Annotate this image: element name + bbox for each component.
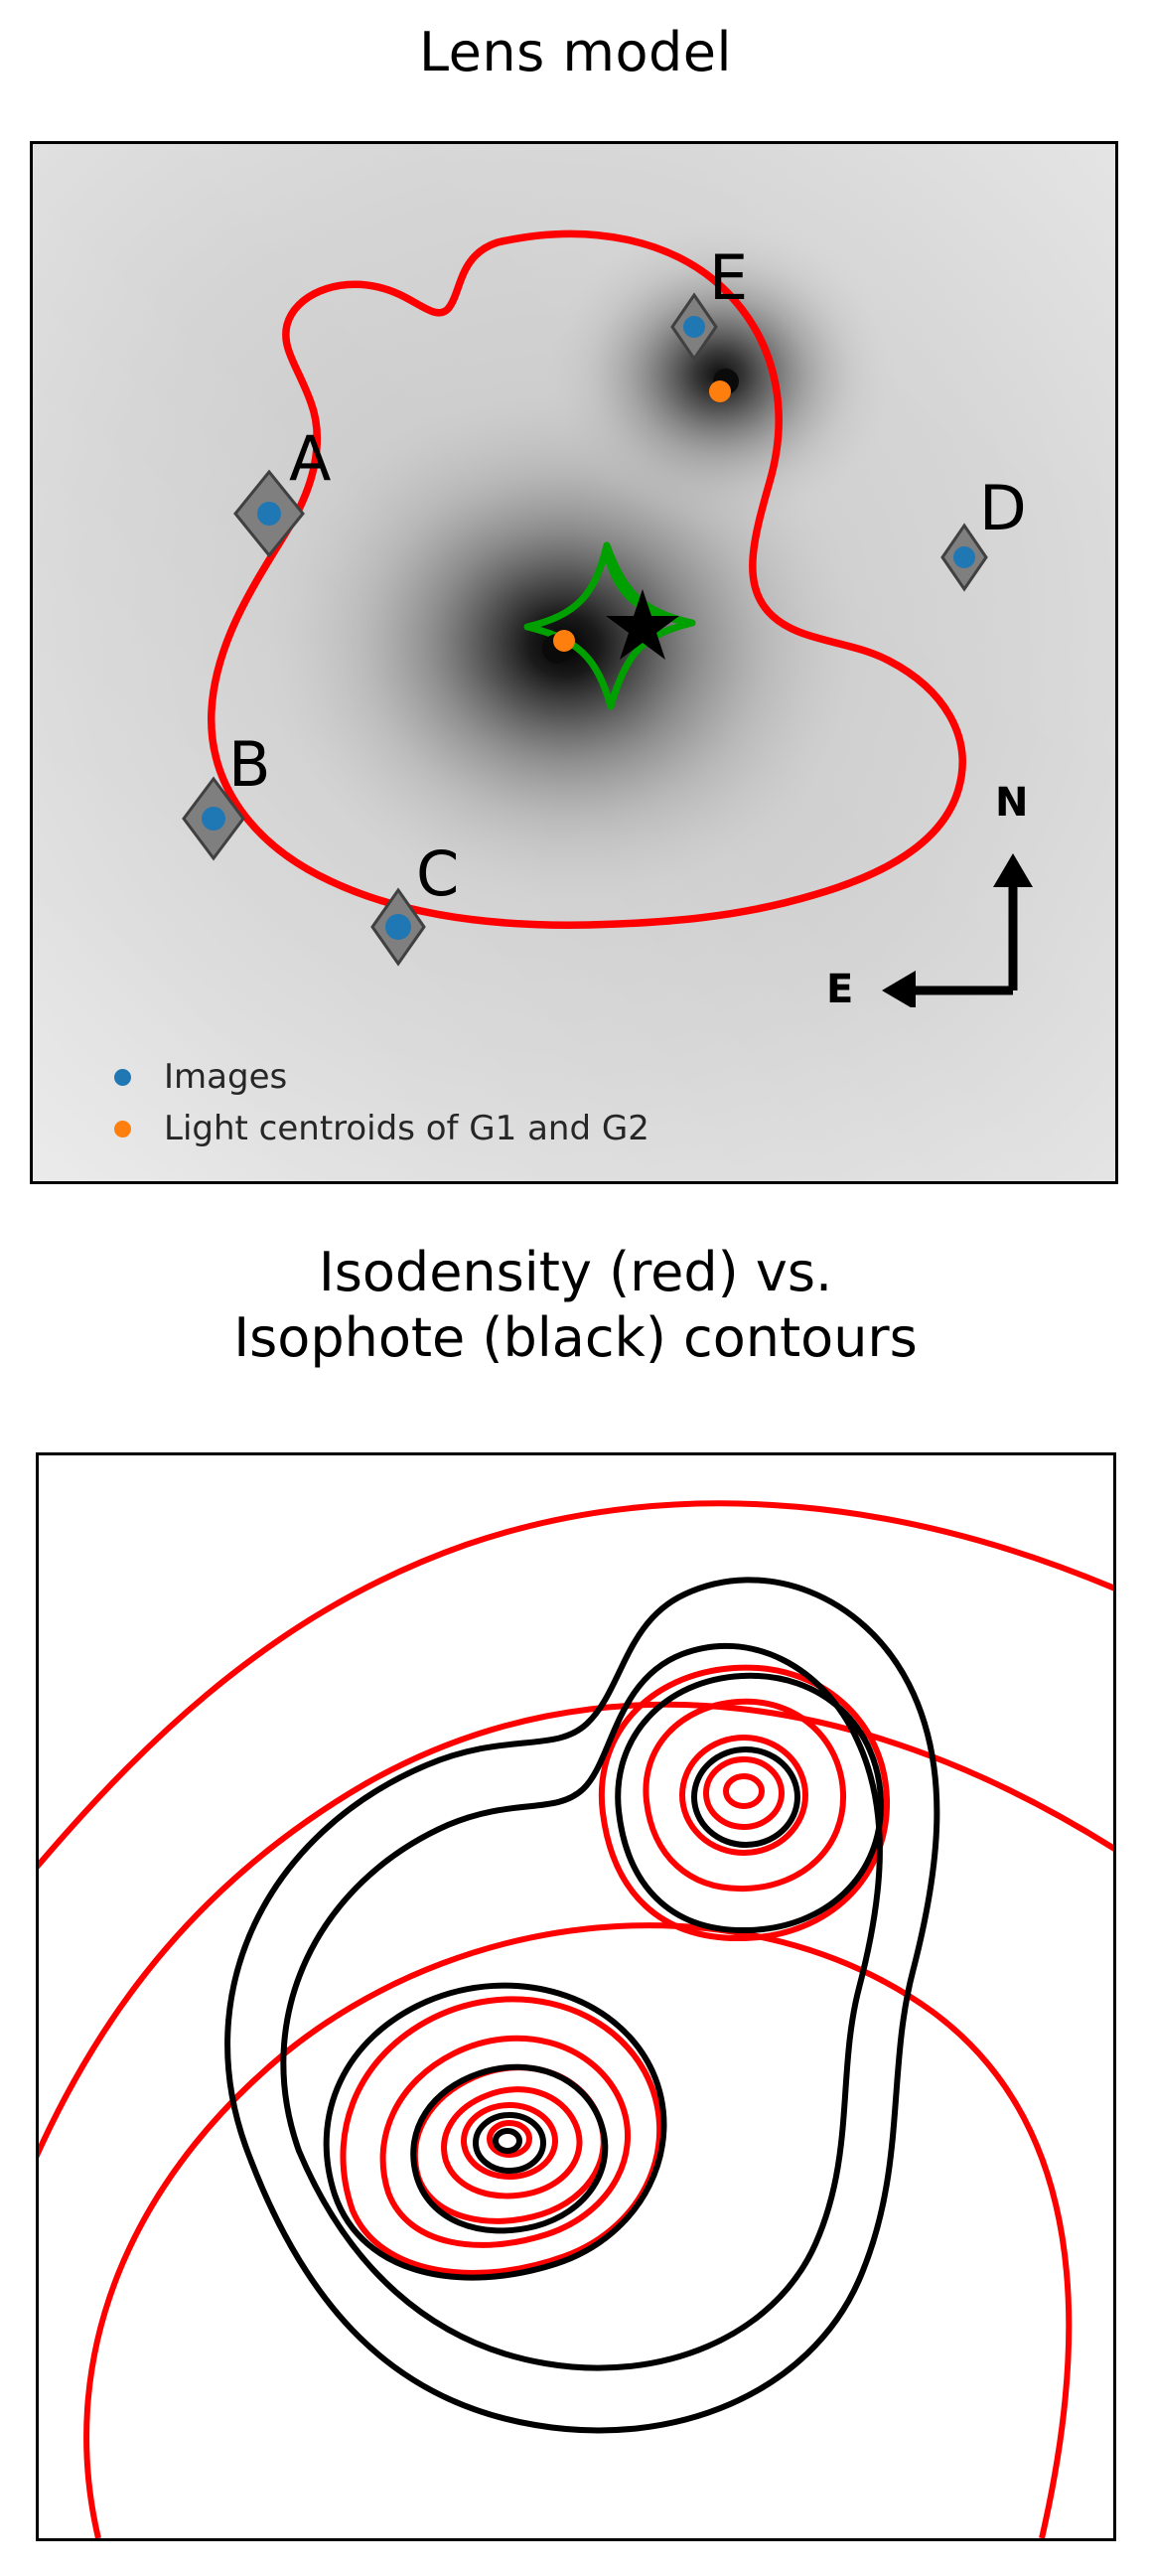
- lens-model-plot: [33, 144, 1115, 1181]
- legend-item-images: Images: [80, 1060, 649, 1094]
- compass-east-label: E: [826, 967, 853, 1012]
- compass-arrows: [862, 824, 1046, 1007]
- panel1-title: Lens model: [0, 22, 1151, 83]
- blue-dot-icon: [80, 1069, 164, 1086]
- image-label-b: B: [228, 734, 271, 796]
- light-centroid-g2: [709, 380, 731, 402]
- legend-item-centroids: Light centroids of G1 and G2: [80, 1112, 649, 1145]
- figure-root: Lens model: [0, 0, 1151, 2576]
- light-centroid-g1: [553, 630, 575, 652]
- panel2-title-line1: Isodensity (red) vs.: [319, 1241, 832, 1303]
- legend-label-images: Images: [164, 1060, 287, 1094]
- panel2-title-line2: Isophote (black) contours: [0, 1305, 1151, 1371]
- background-corner-fade: [33, 144, 1115, 1181]
- legend: Images Light centroids of G1 and G2: [80, 1060, 649, 1145]
- east-arrow-head: [882, 971, 916, 1007]
- compass-rose: N E: [862, 824, 1046, 1007]
- compass-north-label: N: [995, 780, 1028, 826]
- orange-dot-icon: [80, 1121, 164, 1137]
- contour-plot: [39, 1455, 1113, 2538]
- contours-panel: [36, 1452, 1116, 2541]
- image-label-d: D: [979, 478, 1027, 539]
- legend-label-centroids: Light centroids of G1 and G2: [164, 1112, 649, 1145]
- panel2-title: Isodensity (red) vs. Isophote (black) co…: [0, 1240, 1151, 1371]
- image-label-a: A: [289, 428, 331, 490]
- north-arrow-head: [993, 853, 1033, 887]
- lens-model-panel: A B C D E N E Images: [30, 141, 1118, 1184]
- image-label-c: C: [416, 843, 459, 905]
- image-label-e: E: [709, 247, 748, 309]
